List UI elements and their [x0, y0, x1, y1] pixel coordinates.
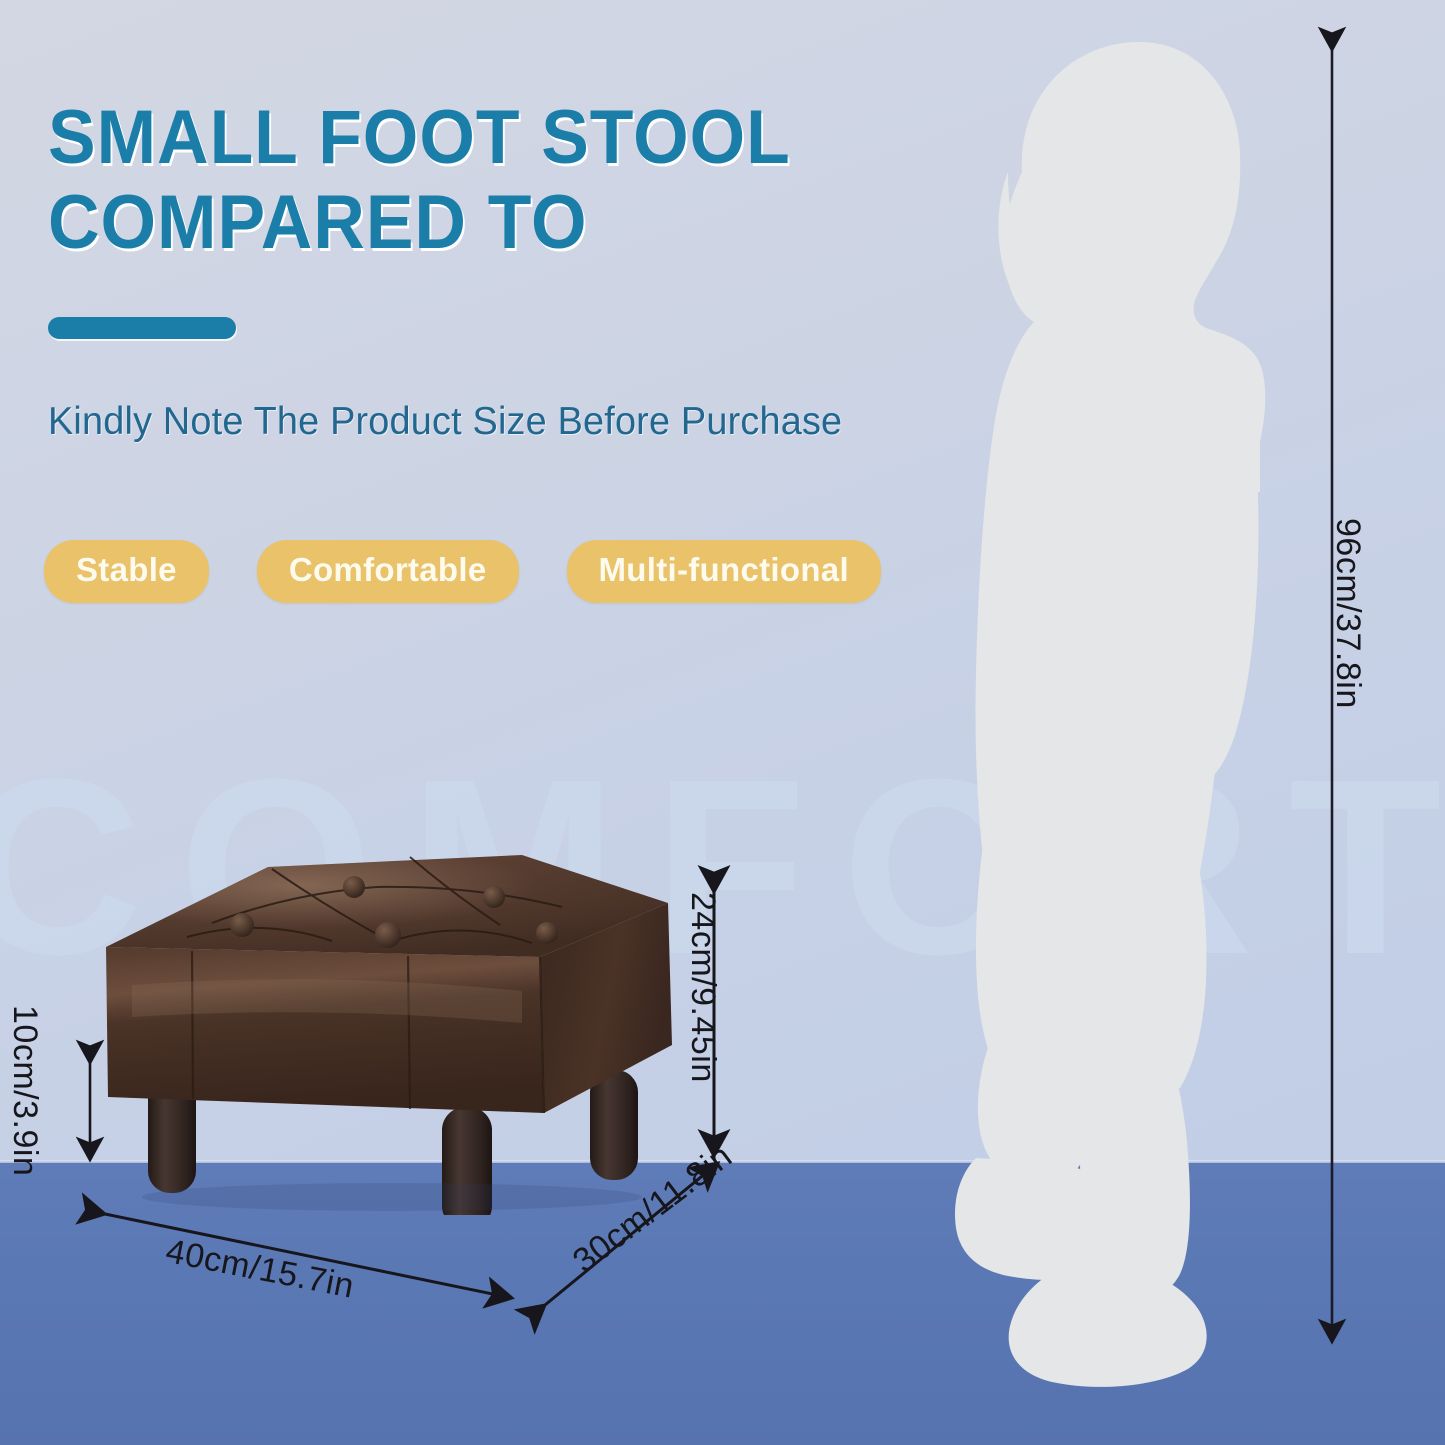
badge-comfortable[interactable]: Comfortable	[257, 540, 519, 603]
title-accent-bar	[48, 317, 236, 339]
subtitle-text: Kindly Note The Product Size Before Purc…	[48, 400, 842, 444]
page-title: SMALL FOOT STOOL COMPARED TO	[48, 95, 978, 265]
badge-multi-functional[interactable]: Multi-functional	[567, 540, 881, 603]
product-footstool-image	[92, 845, 692, 1215]
dimension-label-person-height: 96cm/37.8in	[1328, 518, 1367, 709]
dimension-label-leg-height: 10cm/3.9in	[5, 1005, 44, 1176]
child-silhouette	[930, 22, 1280, 1392]
feature-badge-group: Stable Comfortable Multi-functional	[44, 540, 881, 603]
page-title-line-1: SMALL FOOT STOOL	[48, 95, 922, 180]
dimension-label-stool-height: 24cm/9.45in	[683, 892, 722, 1083]
infographic-canvas: COMFORT SMALL FOOT STOOL COMPARED TO Kin…	[0, 0, 1445, 1445]
badge-stable[interactable]: Stable	[44, 540, 209, 603]
silhouette-body	[955, 42, 1265, 1387]
page-title-line-2: COMPARED TO	[48, 180, 922, 265]
